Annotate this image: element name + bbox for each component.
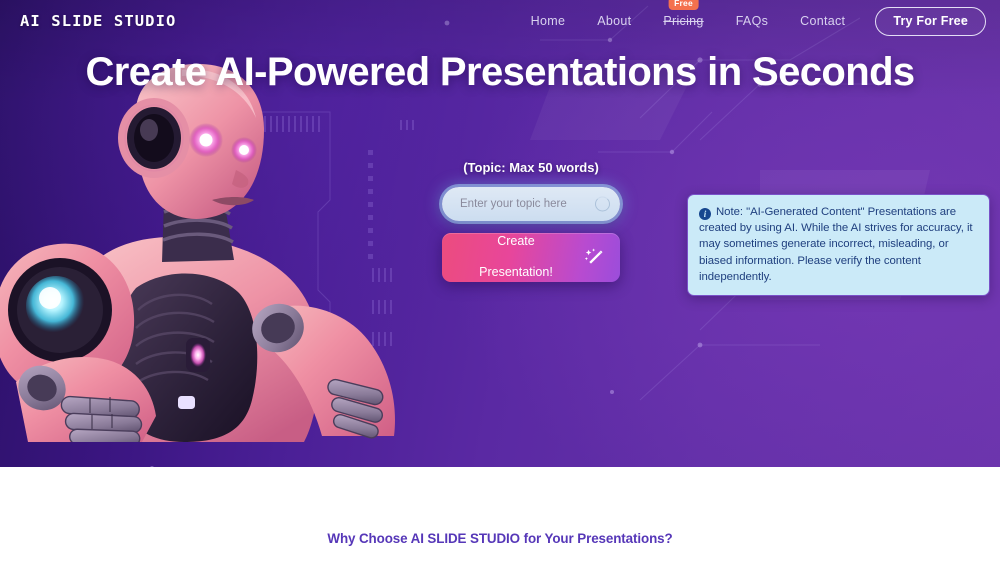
ai-disclaimer-note: iNote: "AI-Generated Content" Presentati… [687, 194, 990, 296]
create-presentation-button[interactable]: Create Presentation! [442, 233, 620, 282]
note-text: Note: "AI-Generated Content" Presentatio… [699, 206, 973, 283]
topic-form: (Topic: Max 50 words) Create Presentatio… [436, 160, 626, 282]
nav-item-pricing-label: Pricing [663, 14, 703, 28]
nav-item-home[interactable]: Home [515, 8, 582, 34]
topic-input-wrapper [442, 187, 620, 221]
features-section [0, 467, 1000, 563]
try-for-free-button[interactable]: Try For Free [875, 7, 986, 36]
hero-section: AI SLIDE STUDIO Home About Free Pricing … [0, 0, 1000, 467]
nav-item-faqs[interactable]: FAQs [720, 8, 784, 34]
topic-input[interactable] [444, 189, 618, 219]
magic-wand-icon [584, 247, 606, 269]
loading-spinner-icon[interactable] [595, 197, 610, 212]
nav-item-contact[interactable]: Contact [784, 8, 861, 34]
nav-links: Home About Free Pricing FAQs Contact Try… [515, 7, 986, 36]
topic-label: (Topic: Max 50 words) [436, 160, 626, 175]
note-text-wrapper: iNote: "AI-Generated Content" Presentati… [699, 204, 977, 285]
brand-logo[interactable]: AI SLIDE STUDIO [20, 12, 176, 30]
navbar: AI SLIDE STUDIO Home About Free Pricing … [0, 0, 1000, 42]
nav-item-about[interactable]: About [581, 8, 647, 34]
create-button-line1: Create [479, 234, 553, 250]
hero-headline: Create AI-Powered Presentations in Secon… [0, 51, 1000, 94]
nav-item-pricing[interactable]: Free Pricing [647, 8, 719, 34]
create-button-line2: Presentation! [479, 265, 553, 281]
features-section-title: Why Choose AI SLIDE STUDIO for Your Pres… [0, 531, 1000, 546]
free-badge: Free [668, 0, 699, 10]
robot-illustration [0, 60, 406, 442]
info-icon: i [699, 208, 711, 220]
